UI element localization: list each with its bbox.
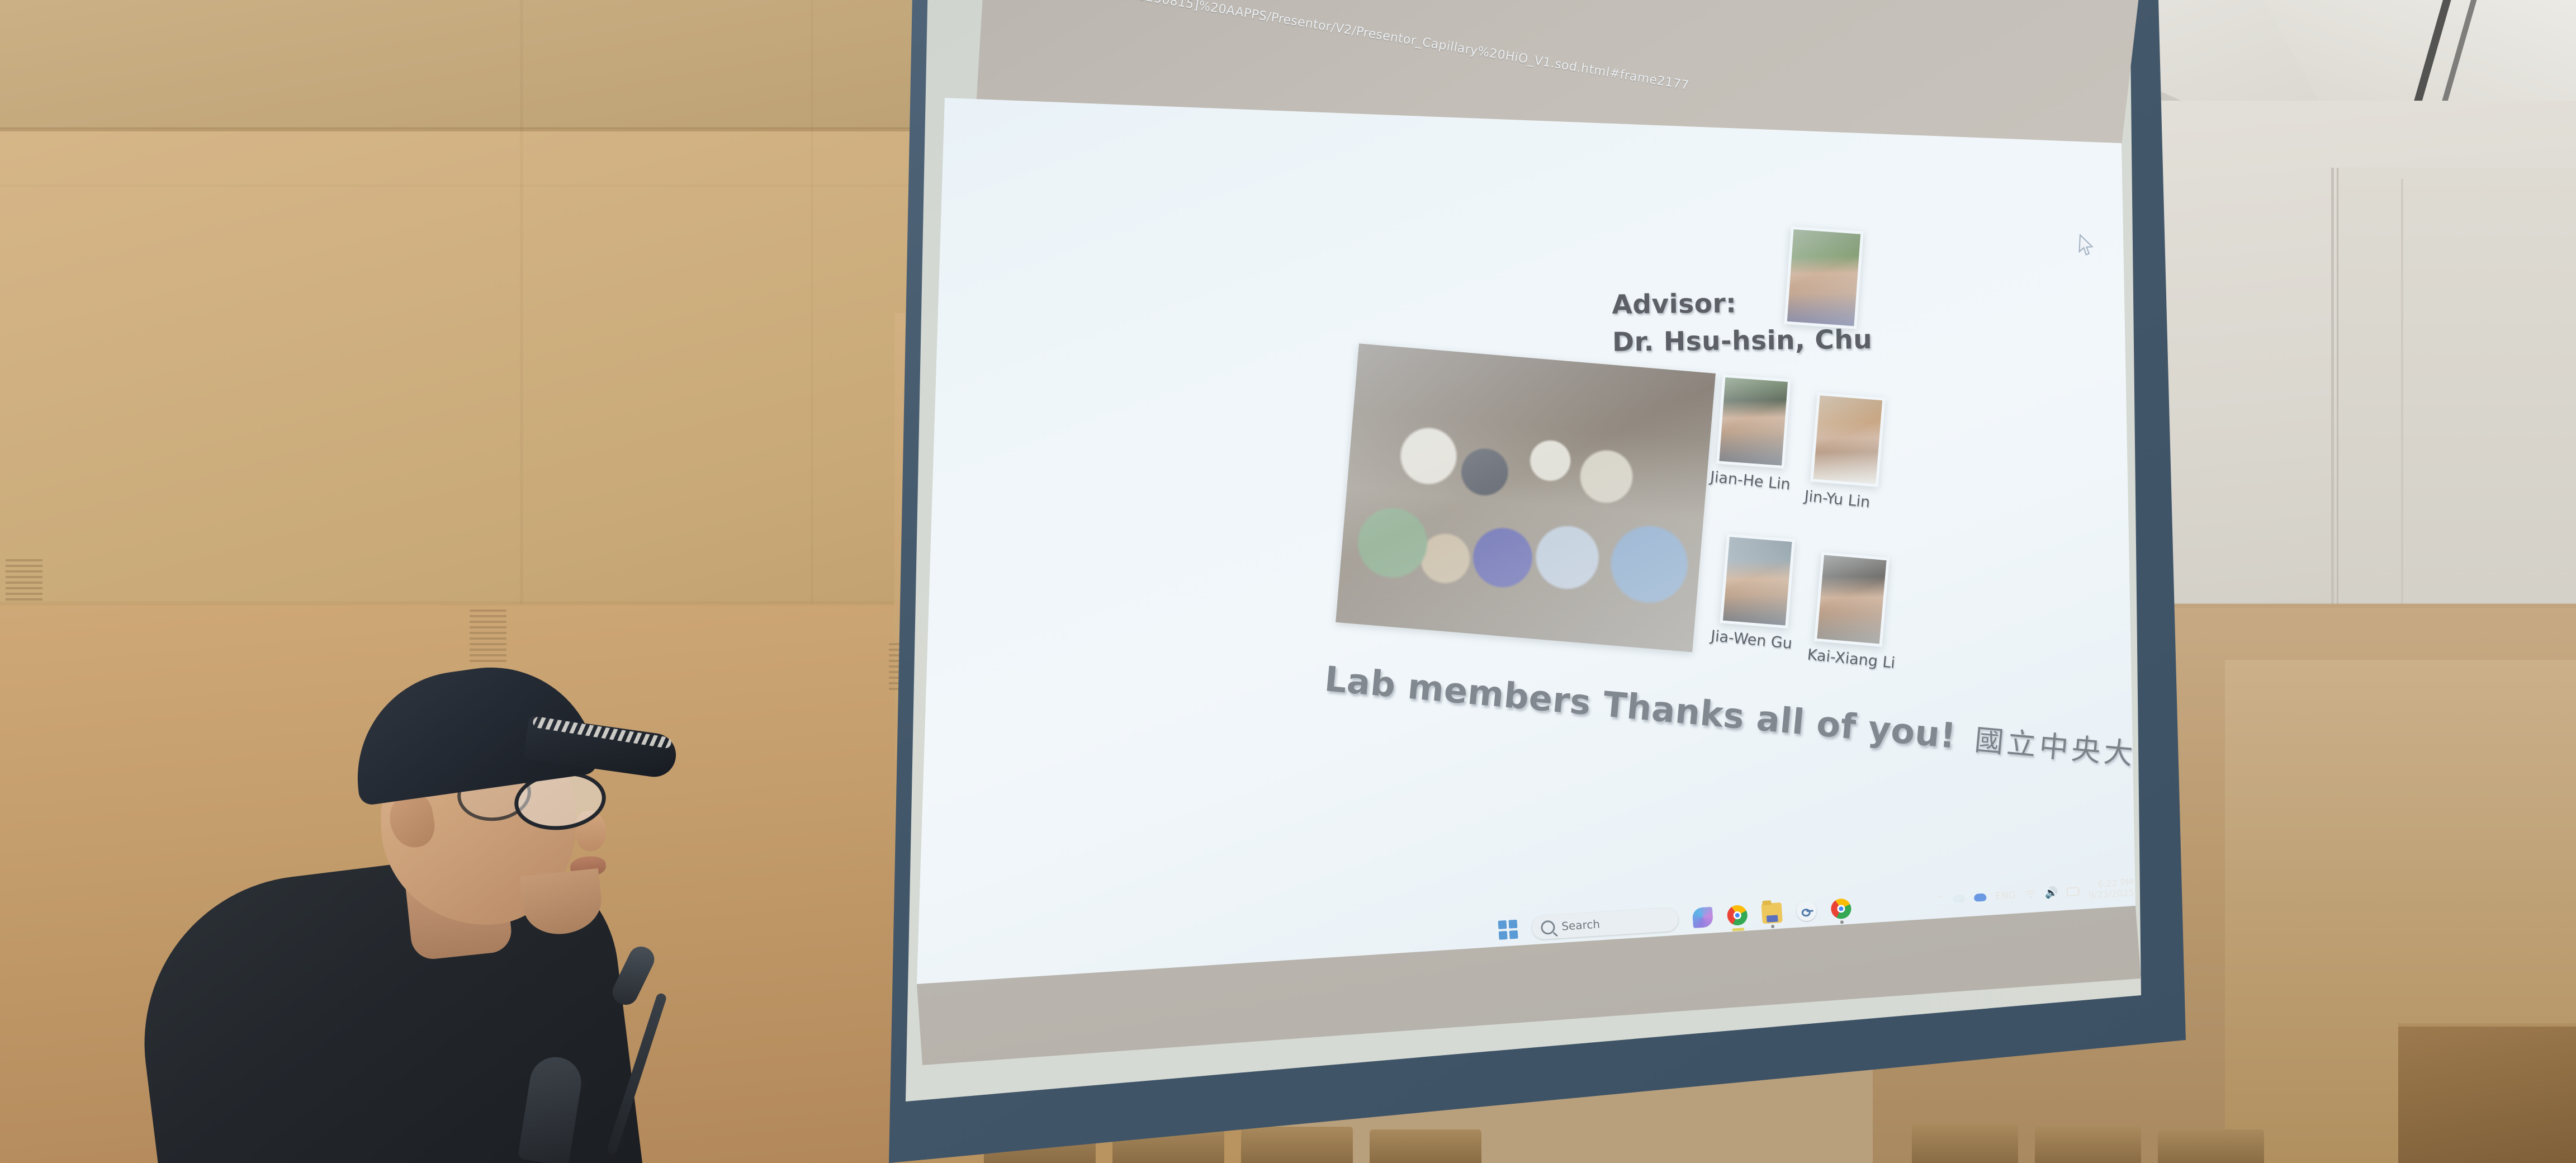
- member-name-3: Jia-Wen Gu: [1710, 627, 1793, 653]
- battery-icon[interactable]: [2067, 887, 2080, 896]
- member-name-1: Jian-He Lin: [1710, 469, 1791, 494]
- copilot-icon[interactable]: [1692, 907, 1713, 928]
- wall-vent: [6, 559, 42, 604]
- screenshot-root: me ive/Projects/[20250815]%20AAPPS/Prese…: [0, 0, 2576, 1163]
- start-button[interactable]: [1498, 920, 1518, 940]
- member-photo-4: [1814, 552, 1890, 647]
- volume-icon[interactable]: 🔊: [2044, 886, 2058, 899]
- wifi-icon[interactable]: [2024, 890, 2036, 898]
- projection-screen: me ive/Projects/[20250815]%20AAPPS/Prese…: [883, 0, 2236, 1163]
- wood-seam: [0, 601, 950, 606]
- member-photo-2: [1810, 393, 1885, 487]
- member-name-4: Kai-Xiang Li: [1806, 646, 1896, 672]
- onedrive-work-icon[interactable]: [1974, 893, 1987, 901]
- chrome-icon-2[interactable]: [1830, 898, 1851, 919]
- advisor-portrait-photo: [1784, 226, 1863, 329]
- member-photo-3: [1720, 534, 1795, 628]
- thanks-text: Lab members Thanks all of you!: [1323, 658, 1958, 756]
- wood-seam: [0, 127, 917, 131]
- mouse-cursor-icon: [2078, 234, 2096, 257]
- search-placeholder: Search: [1561, 917, 1600, 933]
- wood-wall-upper-band: [0, 0, 917, 129]
- file-explorer-icon[interactable]: [1761, 902, 1783, 924]
- member-photo-1: [1716, 375, 1791, 469]
- presenter: [212, 626, 693, 1163]
- lab-group-photo: [1336, 344, 1716, 653]
- slide-footer: Lab members Thanks all of you! 國立中央大學: [1323, 657, 2170, 776]
- member-name-2: Jin-Yu Lin: [1803, 488, 1871, 511]
- podium: [2398, 1023, 2576, 1163]
- chrome-icon[interactable]: [1727, 905, 1748, 926]
- tray-overflow-icon[interactable]: ⌃: [1935, 893, 1944, 906]
- advisor-label: Advisor:: [1612, 283, 1925, 324]
- wood-seam: [0, 185, 917, 187]
- onedrive-icon[interactable]: [1953, 894, 1966, 902]
- keepass-icon[interactable]: [1796, 900, 1817, 921]
- language-indicator[interactable]: ENG: [1995, 890, 2016, 902]
- advisor-name: Dr. Hsu-hsin, Chu: [1612, 321, 1926, 362]
- search-icon: [1541, 920, 1556, 935]
- advisor-block: Advisor: Dr. Hsu-hsin, Chu: [1612, 283, 1925, 361]
- clock[interactable]: 6:22 PM 9/23/2025: [2087, 877, 2134, 901]
